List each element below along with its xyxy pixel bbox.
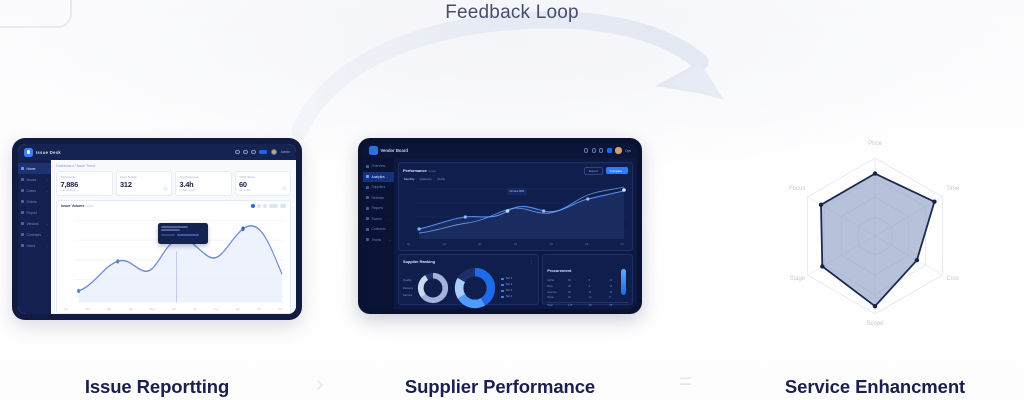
legend-swatch [501, 296, 503, 298]
x-tick: Nov [278, 308, 283, 311]
radar-vertex-dot [819, 203, 823, 207]
kpi-value: 3.4h [180, 180, 228, 189]
app-logo-icon [24, 148, 33, 157]
radar-axis-label: Time [946, 186, 959, 192]
dashboard2-header: Vendor Board Ops [363, 143, 637, 158]
kpi-card: Total Issues 7,886 Last 30 days [56, 171, 113, 196]
nav-icon [21, 200, 24, 203]
x-tick: Apr [129, 308, 133, 311]
sidebar-item-label: Overview [372, 164, 392, 168]
x-tick: Oct [257, 308, 261, 311]
dashboard1-header: Issue Desk Admin [18, 144, 296, 160]
radar-vertex-dot [873, 171, 877, 175]
x-tick: Aug [214, 308, 219, 311]
export-button[interactable]: Export [584, 167, 603, 175]
card-title: Supplier Ranking [403, 259, 435, 264]
legend-item: Tier 3 [501, 289, 512, 292]
table-footer-row: Total 135 38 59 [547, 302, 628, 308]
procurement-table-card: Procurement Alpha 46 8 21 Beta 38 [542, 254, 633, 305]
tooltip-line [161, 226, 188, 228]
chart-plot-area: On-time 92% [403, 181, 628, 243]
sidebar-item-cases[interactable]: Cases ⌄ [18, 185, 51, 196]
chevron-down-icon: ⌄ [45, 189, 48, 193]
radar-axis-label: Focus [789, 186, 805, 192]
nav-icon [366, 217, 369, 220]
legend-item: Tier 2 [501, 283, 512, 286]
stage-caption-3: Service Enhancment [740, 376, 1010, 398]
chevron-right-icon: › [47, 233, 48, 237]
nav-icon [366, 175, 369, 178]
sidebar-item-analytics[interactable]: Analytics [363, 172, 394, 183]
legend-item: Tier 4 [501, 295, 512, 298]
nav-icon [21, 233, 24, 236]
radar-vertex-dot [873, 304, 877, 308]
kpi-card-row: Total Issues 7,886 Last 30 days Open Tic… [56, 171, 291, 196]
sidebar-item-label: Teams [372, 238, 387, 242]
kpi-card: Avg Response 3.4h vs last month [175, 171, 232, 196]
legend-swatch [501, 290, 503, 292]
chart-option-dot[interactable] [251, 204, 255, 208]
chart-x-axis: Jan Feb Mar Apr May Jun Jul Aug Sep Oct [61, 308, 286, 311]
radar-vertex-dot [820, 264, 824, 268]
chart-option-dot[interactable] [263, 204, 267, 208]
chevron-down-icon: ⌄ [45, 244, 48, 248]
sidebar-item-scores[interactable]: Scores › [363, 214, 394, 225]
legend-item: Tier 1 [501, 277, 512, 280]
breadcrumb: Dashboard / Issue Trend [56, 164, 291, 168]
kpi-value: 60 [239, 180, 287, 189]
chart-tooltip [158, 223, 208, 244]
stage-caption-2: Supplier Performance [358, 376, 642, 398]
sidebar-item-report[interactable]: Report [18, 207, 51, 218]
sidebar-item-label: Contracts [27, 233, 45, 237]
sidebar-item-users[interactable]: Users ⌄ [18, 240, 51, 251]
nav-icon [21, 167, 24, 170]
stage-service-enhancement: Price Time Cost Scope Stage Focus Servic… [740, 138, 1010, 338]
chart-subtitle: score [429, 169, 436, 173]
kpi-value: 7,886 [61, 180, 109, 189]
dashboard1-sidebar: Home Issues ⌄ Cases ⌄ [18, 160, 51, 314]
nav-icon [366, 165, 369, 168]
stage-caption-1: Issue Reportting [12, 376, 302, 398]
donut-chart-primary [453, 266, 497, 309]
kpi-sublabel: vs last month [180, 189, 228, 192]
x-tick: Q4 [514, 243, 517, 246]
sidebar-item-suppliers[interactable]: Suppliers [363, 182, 394, 193]
separator-equals-icon: = [679, 368, 693, 395]
table-row: Beta 38 5 17 [547, 285, 628, 288]
supplier-ranking-card: Supplier Ranking ⋮ Quality Delivery Serv… [398, 254, 539, 305]
chevron-right-icon: › [390, 227, 391, 231]
sidebar-item-orders[interactable]: Orders [18, 196, 51, 207]
dashboard2-sidebar: Overview Analytics Suppliers Review [363, 158, 394, 309]
chart-x-axis: Q1 Q2 Q3 Q4 Q5 Q6 Q7 [403, 243, 628, 246]
donut-legend: Tier 1 Tier 2 Tier 3 Tier 4 [501, 277, 512, 298]
donut-row-label: Quality [403, 278, 413, 282]
sidebar-item-vendors[interactable]: Vendors › [18, 218, 51, 229]
x-tick: Q3 [478, 243, 481, 246]
x-tick: Sep [235, 308, 240, 311]
user-name-label: Ops [625, 149, 631, 153]
radar-axis-label: Cost [947, 276, 959, 282]
chevron-down-icon: ⌄ [389, 238, 391, 242]
radar-vertex-dot [915, 258, 919, 262]
chart-plot-area [61, 209, 286, 308]
donut-row-label: Delivery [403, 286, 413, 290]
issue-trend-chart-card: Issue Volume trend [56, 200, 291, 315]
sidebar-item-label: Suppliers [372, 185, 392, 189]
nav-icon [366, 196, 369, 199]
kpi-label: Open Tickets [120, 175, 168, 179]
kpi-sublabel: Last 30 days [61, 189, 109, 192]
sidebar-item-label: Scores [372, 217, 388, 221]
tooltip-line [161, 229, 180, 231]
table-row: Alpha 46 8 21 [547, 279, 628, 282]
kpi-value: 312 [120, 180, 168, 189]
kpi-label: Avg Response [180, 175, 228, 179]
user-name-label: Admin [281, 150, 290, 154]
chart-menu-icon[interactable] [280, 204, 286, 208]
chart-title: Performance [403, 168, 427, 173]
sidebar-item-label: Issues [27, 178, 43, 182]
kpi-label: CSAT Score [239, 175, 287, 179]
tooltip-line [177, 234, 199, 237]
chart-title: Issue Volume [61, 204, 85, 208]
chart-tooltip: On-time 92% [507, 188, 528, 195]
tablet-device-light: Issue Desk Admin Home [12, 138, 302, 320]
x-tick: May [150, 308, 155, 311]
back-icon[interactable] [584, 148, 588, 152]
notification-badge[interactable] [259, 150, 267, 155]
performance-chart-card: Performance score Export Compare Monthly… [398, 162, 633, 251]
radar-axis-label: Price [868, 141, 882, 147]
x-tick: Q7 [620, 243, 623, 246]
legend-swatch [501, 278, 503, 280]
sidebar-item-label: Users [27, 244, 43, 248]
x-tick: Mar [107, 308, 111, 311]
sidebar-item-label: Reviews [372, 196, 392, 200]
radar-axis-label: Scope [866, 321, 883, 327]
compare-button[interactable]: Compare [606, 167, 628, 174]
table-row: Gamma 29 11 13 [547, 291, 628, 294]
avatar[interactable] [615, 147, 621, 153]
sidebar-item-label: Cases [27, 189, 43, 193]
tablet-device-dark: Vendor Board Ops Overview [358, 138, 642, 314]
sidebar-item-label: Vendors [27, 222, 45, 226]
x-tick: Q6 [585, 243, 588, 246]
sidebar-item-label: Contracts [372, 227, 388, 231]
search-icon[interactable] [592, 148, 596, 152]
x-tick: Jan [64, 308, 68, 311]
chevron-right-icon: › [47, 222, 48, 226]
nav-icon [21, 211, 24, 214]
radar-axis-label: Stage [789, 276, 805, 282]
donut-chart-secondary [416, 271, 450, 305]
sidebar-item-issues[interactable]: Issues ⌄ [18, 174, 51, 185]
app-brand-label: Vendor Board [381, 148, 408, 153]
x-tick: Jun [172, 308, 176, 311]
table-row: Delta 22 14 8 [547, 296, 628, 299]
sidebar-item-label: Report [27, 211, 49, 215]
sidebar-item-home[interactable]: Home [18, 163, 51, 174]
nav-icon [366, 186, 369, 189]
radar-chart-svg [740, 138, 1010, 338]
sidebar-item-overview[interactable]: Overview [363, 161, 394, 172]
sidebar-item-reports[interactable]: Reports [363, 203, 394, 214]
chart-range-selector[interactable] [269, 204, 278, 208]
x-tick: Feb [85, 308, 89, 311]
app-brand-label: Issue Desk [36, 150, 61, 155]
kpi-badge-icon [163, 186, 168, 191]
donut-row-label: Service [403, 293, 413, 297]
stage-issue-reporting: Issue Desk Admin Home [12, 138, 302, 320]
highlight-bar [621, 269, 626, 295]
legend-swatch [501, 284, 503, 286]
chart-option-dot[interactable] [257, 204, 261, 208]
x-tick: Q5 [549, 243, 552, 246]
pipeline-stage-row: › = Issue Desk Admin [0, 138, 1024, 400]
sidebar-item-label: Analytics [372, 175, 392, 179]
sidebar-item-label: Home [27, 167, 49, 171]
radar-chart: Price Time Cost Scope Stage Focus [740, 138, 1010, 338]
help-icon[interactable] [243, 150, 248, 155]
nav-icon [366, 207, 369, 210]
radar-vertex-dot [932, 200, 936, 204]
nav-icon [366, 228, 369, 231]
kpi-label: Total Issues [61, 175, 109, 179]
sidebar-item-teams[interactable]: Teams ⌄ [363, 235, 394, 246]
x-tick: Q2 [443, 243, 446, 246]
sidebar-item-contracts[interactable]: Contracts › [18, 229, 51, 240]
nav-icon [21, 189, 24, 192]
card-title: Procurement [547, 268, 571, 273]
nav-icon [21, 178, 24, 181]
settings-icon[interactable] [607, 148, 612, 153]
x-tick: Q1 [407, 243, 410, 246]
sidebar-item-label: Orders [27, 200, 49, 204]
sidebar-item-reviews[interactable]: Reviews [363, 193, 394, 204]
x-tick: Jul [193, 308, 196, 311]
tooltip-line [161, 234, 175, 237]
chevron-down-icon: ⌄ [45, 178, 48, 182]
card-menu-icon[interactable]: ⋮ [530, 259, 534, 264]
chevron-right-icon: › [390, 217, 391, 221]
app-logo-icon [369, 146, 378, 155]
sidebar-item-label: Reports [372, 206, 392, 210]
chart-subtitle: trend [87, 204, 94, 208]
page-title: Feedback Loop [0, 2, 1024, 24]
menu-icon[interactable] [599, 148, 603, 152]
kpi-badge-icon [282, 186, 287, 191]
stage-supplier-performance: Vendor Board Ops Overview [358, 138, 642, 314]
radar-data-polygon [821, 174, 934, 307]
kpi-card: Open Tickets 312 [116, 171, 173, 196]
separator-chevron-icon: › [316, 370, 324, 397]
avatar[interactable] [271, 149, 278, 156]
lock-icon[interactable] [251, 150, 256, 155]
nav-icon [21, 222, 24, 225]
nav-icon [366, 238, 369, 241]
kpi-sublabel: out of 100 [239, 189, 287, 192]
nav-icon [21, 244, 24, 247]
search-icon[interactable] [235, 150, 240, 155]
kpi-card: CSAT Score 60 out of 100 [235, 171, 292, 196]
sidebar-item-contracts[interactable]: Contracts › [363, 224, 394, 235]
